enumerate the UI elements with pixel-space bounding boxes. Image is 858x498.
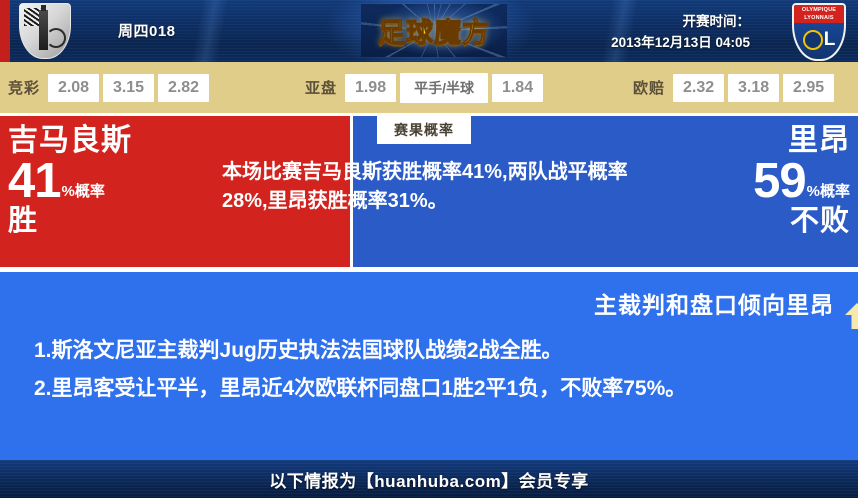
kickoff-label: 开赛时间：: [683, 10, 751, 30]
probability-band: 赛果概率 吉马良斯 41 %概率 胜 里昂 59 %概率 不败 本场比赛吉马良斯…: [0, 116, 858, 267]
odds-cell[interactable]: 3.18: [728, 74, 779, 102]
odds-group-label: 竞彩: [8, 77, 40, 98]
home-team-crest-icon: [17, 3, 72, 59]
insight-headline-row: 主裁判和盘口倾向里昂: [594, 286, 844, 320]
home-probability-value: 41: [8, 158, 61, 204]
header-red-accent: [0, 0, 10, 62]
odds-cell-handicap[interactable]: 平手/半球: [400, 73, 488, 103]
odds-group-jingcai: 竞彩 2.08 3.15 2.82: [0, 74, 213, 102]
home-outcome-label: 胜: [8, 204, 188, 238]
list-item: 1.斯洛文尼亚主裁判Jug历史执法法国球队战绩2战全胜。: [34, 332, 824, 370]
lion-ring-icon: [803, 30, 823, 50]
away-outcome-label: 不败: [660, 204, 850, 238]
away-crest-bottom-text: LYONNAIS: [794, 14, 844, 22]
odds-group-asian: 亚盘 1.98 平手/半球 1.84: [297, 73, 547, 103]
footer-bar: 以下情报为【huanhuba.com】会员专享: [0, 460, 858, 498]
odds-cell[interactable]: 2.95: [783, 74, 834, 102]
home-probability-unit: %概率: [62, 184, 105, 204]
match-preview-card: 周四018 足球魔方 开赛时间： 2013年12月13日 04:05 OLYMP…: [0, 0, 858, 498]
home-probability-summary: 吉马良斯 41 %概率 胜: [8, 124, 188, 238]
insight-headline: 主裁判和盘口倾向里昂: [594, 286, 834, 320]
away-crest-letter: L: [824, 32, 836, 48]
away-team-name: 里昂: [660, 124, 850, 158]
away-crest-top-text: OLYMPIQUE: [794, 6, 844, 14]
match-number-label: 周四018: [118, 20, 176, 41]
away-probability-unit: %概率: [807, 184, 850, 204]
insight-list: 1.斯洛文尼亚主裁判Jug历史执法法国球队战绩2战全胜。 2.里昂客受让平半，里…: [34, 332, 824, 408]
probability-description: 本场比赛吉马良斯获胜概率41%,两队战平概率28%,里昂获胜概率31%。: [222, 158, 634, 216]
odds-cell[interactable]: 3.15: [103, 74, 154, 102]
away-team-crest-icon: OLYMPIQUE LYONNAIS L: [792, 3, 846, 59]
away-probability-summary: 里昂 59 %概率 不败: [660, 124, 850, 238]
brand-logo-text: 足球魔方: [378, 11, 490, 50]
brand-logo: 足球魔方: [361, 4, 507, 57]
footer-text: 以下情报为【huanhuba.com】会员专享: [269, 467, 588, 492]
odds-cell[interactable]: 1.84: [492, 74, 543, 102]
odds-group-european: 欧赔 2.32 3.18 2.95: [625, 74, 838, 102]
away-probability-value: 59: [753, 158, 806, 204]
list-item: 2.里昂客受让平半，里昂近4次欧联杯同盘口1胜2平1负，不败率75%。: [34, 370, 824, 408]
insight-panel: 主裁判和盘口倾向里昂 1.斯洛文尼亚主裁判Jug历史执法法国球队战绩2战全胜。 …: [0, 272, 858, 460]
header-bar: 周四018 足球魔方 开赛时间： 2013年12月13日 04:05 OLYMP…: [0, 0, 858, 62]
odds-cell[interactable]: 1.98: [345, 74, 396, 102]
odds-group-label: 亚盘: [305, 77, 337, 98]
odds-cell[interactable]: 2.82: [158, 74, 209, 102]
odds-cell[interactable]: 2.08: [48, 74, 99, 102]
odds-bar: 竞彩 2.08 3.15 2.82 亚盘 1.98 平手/半球 1.84 欧赔 …: [0, 62, 858, 113]
section-tab-result-probability: 赛果概率: [377, 116, 471, 144]
odds-cell[interactable]: 2.32: [673, 74, 724, 102]
kickoff-time: 2013年12月13日 04:05: [611, 31, 750, 51]
odds-group-label: 欧赔: [633, 77, 665, 98]
home-team-name: 吉马良斯: [8, 124, 188, 158]
